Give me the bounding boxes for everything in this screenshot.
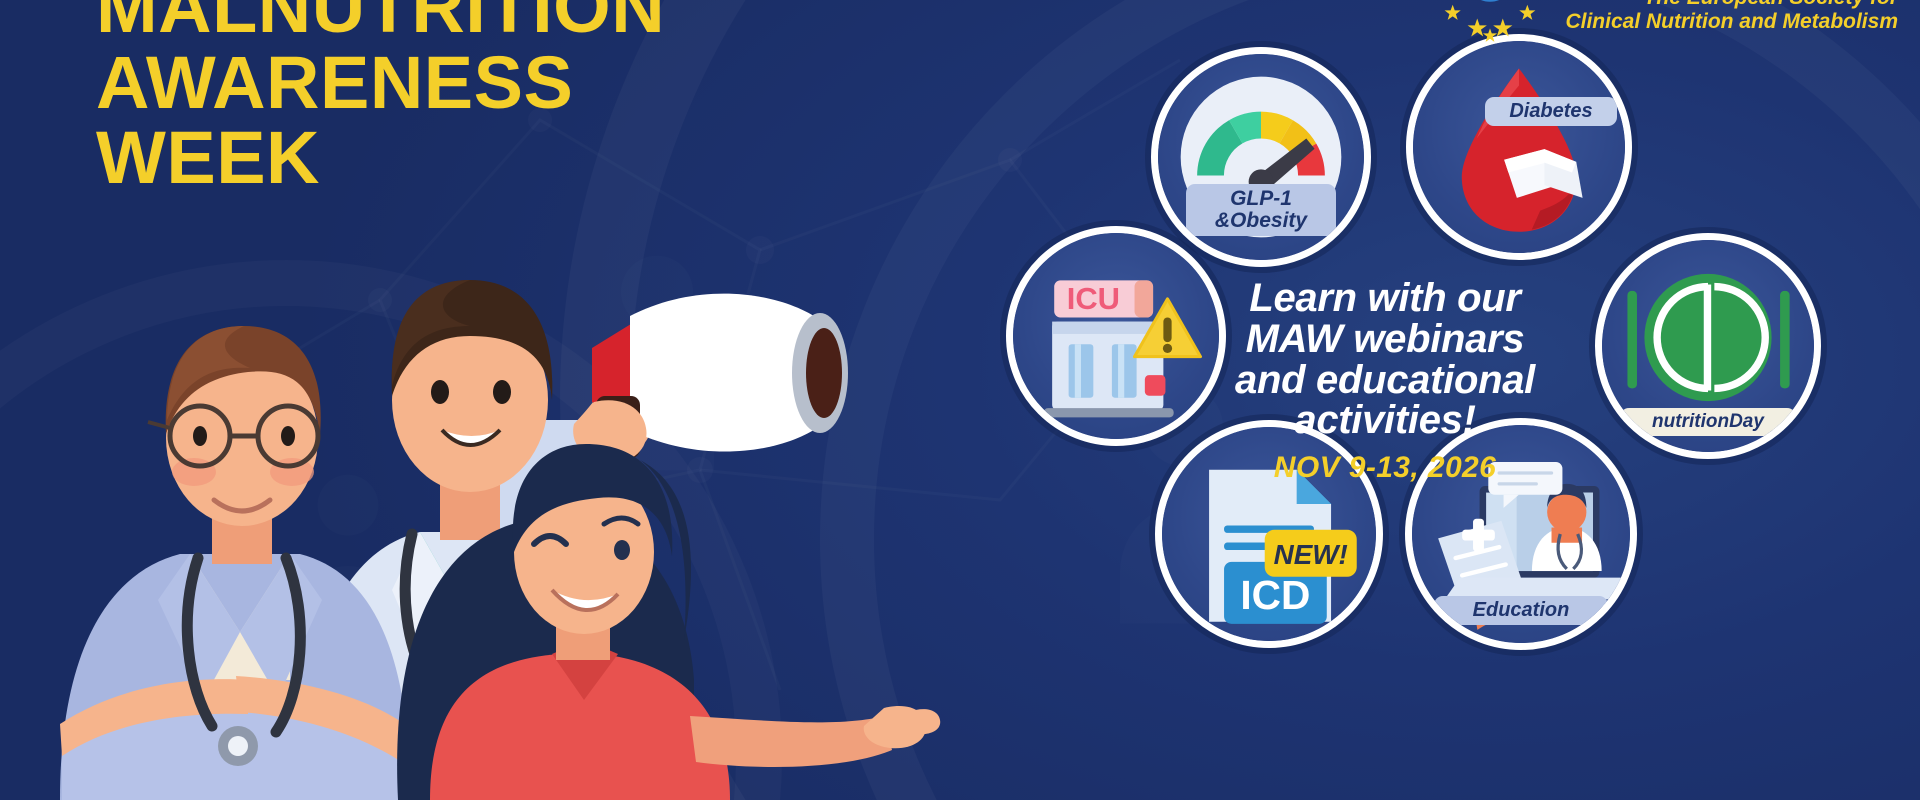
badge-nutritionday-label: nutritionDay xyxy=(1620,408,1796,436)
headline-line-1: MALNUTRITION xyxy=(96,0,665,42)
headline-line-2: AWARENESS xyxy=(96,48,665,118)
banner-headline: MALNUTRITION AWARENESS WEEK xyxy=(96,0,665,193)
svg-text:NEW!: NEW! xyxy=(1274,539,1348,570)
malnutrition-awareness-week-banner: MALNUTRITION AWARENESS WEEK xyxy=(0,0,1920,800)
megaphone-icon xyxy=(573,294,848,463)
center-copy-block: Learn with our MAW webinars and educatio… xyxy=(1230,278,1540,485)
center-copy-line-3: and educational xyxy=(1230,360,1540,401)
espen-tagline-line-1: The European Society for xyxy=(1565,0,1898,10)
espen-logo: The European Society for Clinical Nutrit… xyxy=(1431,0,1898,46)
badge-glp1-label-line-1: GLP-1 xyxy=(1230,187,1292,210)
espen-logo-mark xyxy=(1431,0,1549,46)
badge-icu[interactable]: ICU xyxy=(1006,226,1226,446)
svg-text:ICU: ICU xyxy=(1067,281,1120,316)
badge-glp1-label-line-2: &Obesity xyxy=(1215,209,1307,232)
center-copy-line-1: Learn with our xyxy=(1230,278,1540,319)
center-copy-line-2: MAW webinars xyxy=(1230,319,1540,360)
nurse-with-glasses xyxy=(60,326,410,800)
espen-logo-tagline: The European Society for Clinical Nutrit… xyxy=(1565,0,1898,33)
badge-education-label: Education xyxy=(1434,596,1608,625)
headline-line-3: WEEK xyxy=(96,123,665,193)
badge-glp1-label: GLP-1 &Obesity xyxy=(1186,184,1336,236)
badge-diabetes-label: Diabetes xyxy=(1485,97,1617,126)
blood-drop-icon xyxy=(1413,41,1625,253)
hospital-icu-icon: ICU xyxy=(1013,233,1219,439)
espen-tagline-line-2: Clinical Nutrition and Metabolism xyxy=(1565,10,1898,34)
event-dateline: NOV 9-13, 2026 xyxy=(1230,451,1540,485)
healthcare-team-illustration xyxy=(0,120,1000,800)
center-copy-line-4: activities! xyxy=(1230,400,1540,441)
badge-diabetes[interactable]: Diabetes xyxy=(1406,34,1632,260)
svg-text:ICD: ICD xyxy=(1240,572,1310,618)
